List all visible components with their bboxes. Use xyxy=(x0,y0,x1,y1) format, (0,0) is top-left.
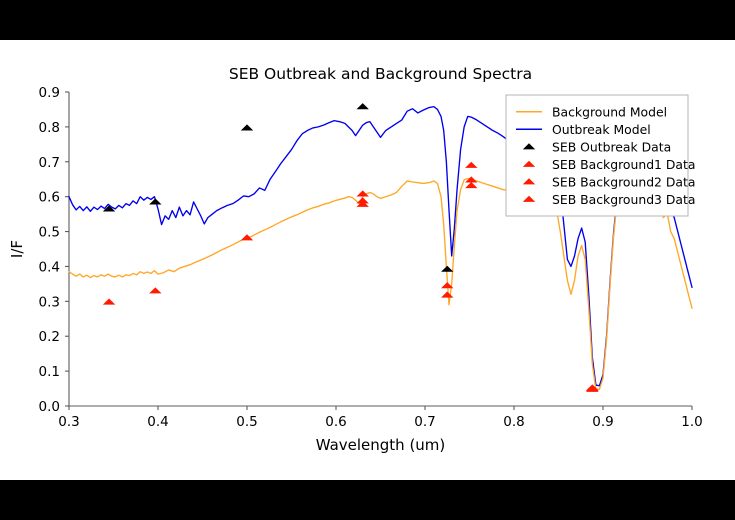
spectra-chart: 0.30.40.50.60.70.80.91.00.00.10.20.30.40… xyxy=(0,40,735,480)
x-tick-label: 0.7 xyxy=(414,414,435,430)
legend-label: SEB Background1 Data xyxy=(552,157,695,172)
x-tick-label: 0.5 xyxy=(236,414,257,430)
x-tick-label: 0.3 xyxy=(58,414,79,430)
chart-title: SEB Outbreak and Background Spectra xyxy=(229,65,532,83)
x-tick-label: 0.8 xyxy=(503,414,524,430)
y-tick-label: 0.4 xyxy=(39,259,60,275)
y-tick-label: 0.1 xyxy=(39,364,60,380)
x-tick-label: 0.6 xyxy=(325,414,346,430)
data-point-marker xyxy=(357,103,369,109)
screenshot-root: 0.30.40.50.60.70.80.91.00.00.10.20.30.40… xyxy=(0,0,735,520)
y-tick-label: 0.7 xyxy=(39,155,60,171)
data-point-marker xyxy=(465,162,477,168)
y-tick-label: 0.2 xyxy=(39,329,60,345)
data-point-marker xyxy=(241,124,253,130)
data-point-marker xyxy=(241,234,253,240)
y-tick-label: 0.5 xyxy=(39,225,60,241)
x-tick-label: 0.4 xyxy=(147,414,168,430)
legend-label: Background Model xyxy=(552,104,667,119)
legend-label: Outbreak Model xyxy=(552,122,651,137)
y-tick-label: 0.6 xyxy=(39,190,60,206)
y-tick-label: 0.0 xyxy=(39,399,60,415)
y-axis-label: I/F xyxy=(8,240,26,258)
x-tick-label: 1.0 xyxy=(681,414,702,430)
legend-label: SEB Background3 Data xyxy=(552,192,695,207)
data-point-marker xyxy=(441,292,453,298)
legend-label: SEB Outbreak Data xyxy=(552,139,671,154)
y-tick-label: 0.8 xyxy=(39,120,60,136)
y-tick-label: 0.3 xyxy=(39,294,60,310)
figure-canvas: 0.30.40.50.60.70.80.91.00.00.10.20.30.40… xyxy=(0,40,735,480)
y-tick-label: 0.9 xyxy=(39,85,60,101)
x-axis-label: Wavelength (um) xyxy=(316,436,446,454)
legend-label: SEB Background2 Data xyxy=(552,174,695,189)
data-point-marker xyxy=(441,266,453,272)
data-point-marker xyxy=(149,287,161,293)
x-tick-label: 0.9 xyxy=(592,414,613,430)
data-point-marker xyxy=(465,182,477,188)
data-point-marker xyxy=(103,298,115,304)
